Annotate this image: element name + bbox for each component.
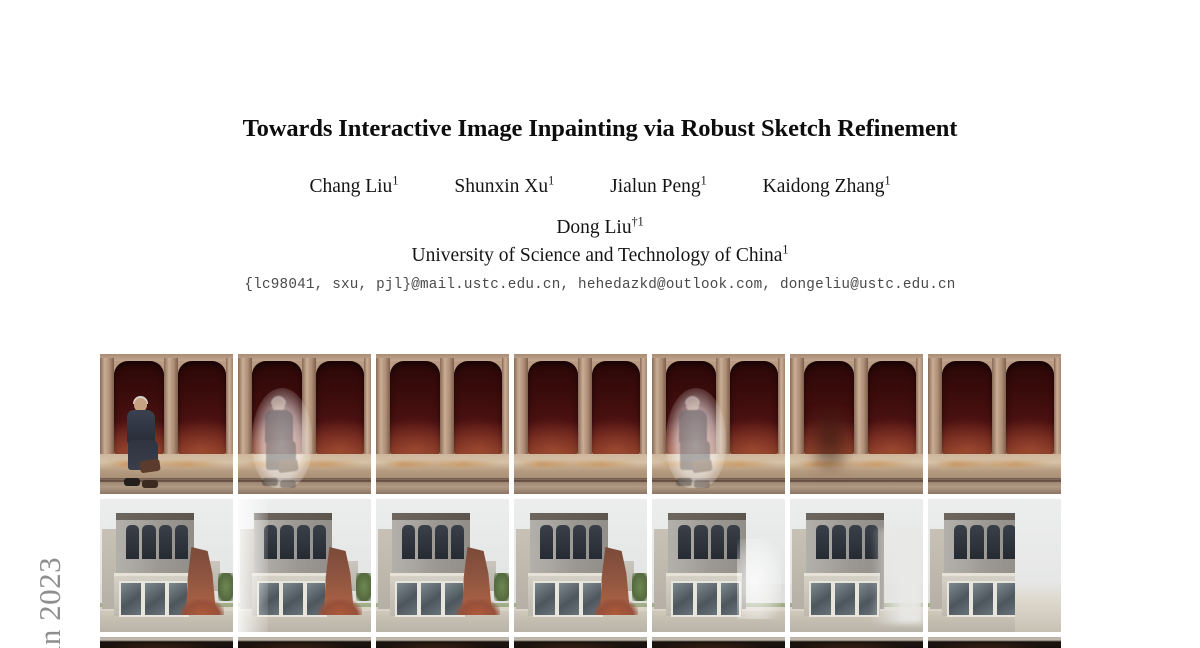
window-row	[816, 525, 878, 559]
wall-pillar	[226, 358, 233, 456]
wall-ledge	[238, 454, 371, 478]
window	[418, 525, 431, 559]
scene-derelict-building	[652, 499, 785, 632]
scene-derelict-building	[514, 499, 647, 632]
window	[280, 525, 293, 559]
author-entry: Chang Liu1	[281, 176, 426, 198]
window-row	[678, 525, 740, 559]
seated-person-ghost	[674, 398, 716, 480]
author-list-primary: Chang Liu1 Shunxin Xu1 Jialun Peng1 Kaid…	[100, 176, 1100, 198]
wall-pillar	[302, 358, 316, 456]
scene-brick-wall	[928, 354, 1061, 494]
window	[711, 525, 724, 559]
person-shoe	[676, 478, 692, 486]
affiliation-mark: 1	[782, 243, 788, 257]
roofline	[254, 513, 332, 520]
scene-brick-wall	[376, 354, 509, 494]
person-shoe	[142, 480, 158, 488]
roofline	[944, 513, 1022, 520]
author-emails: {lc98041, sxu, pjl}@mail.ustc.edu.cn, he…	[100, 277, 1100, 293]
figure-cell	[376, 637, 509, 648]
arch-opening-right	[178, 361, 226, 454]
arch-opening-left	[804, 361, 854, 454]
window	[816, 525, 829, 559]
wall-pillar	[376, 358, 390, 456]
author-name: Jialun Peng	[610, 176, 700, 197]
roofline	[806, 513, 884, 520]
window	[970, 525, 983, 559]
storefront-glass	[947, 581, 971, 617]
storefront-glass	[281, 581, 305, 617]
author-entry: Jialun Peng1	[582, 176, 735, 198]
person-legs	[266, 440, 296, 470]
tree	[356, 573, 371, 601]
wall-base	[376, 478, 509, 494]
arch-opening-right	[454, 361, 502, 454]
wall-pillar	[502, 358, 509, 456]
figure-cell	[238, 354, 371, 494]
window	[865, 525, 878, 559]
wall-pillar	[440, 358, 454, 456]
storefront-glass	[257, 581, 281, 617]
window	[540, 525, 553, 559]
figure-cell	[652, 499, 785, 632]
roofline	[668, 513, 746, 520]
person-legs	[128, 440, 158, 470]
roofline	[392, 513, 470, 520]
scene-dark-cropped	[238, 637, 371, 648]
window-row	[126, 525, 188, 559]
window	[264, 525, 277, 559]
figure-cell	[652, 637, 785, 648]
figure-cell	[928, 637, 1061, 648]
window	[556, 525, 569, 559]
scene-brick-wall	[514, 354, 647, 494]
storefront-glass	[533, 581, 557, 617]
person-torso	[265, 410, 293, 444]
author-affiliation-mark: 1	[701, 174, 707, 188]
window	[573, 525, 586, 559]
person-shoe	[262, 478, 278, 486]
wall-pillar	[928, 358, 942, 456]
window	[832, 525, 845, 559]
scene-dark-cropped	[928, 637, 1061, 648]
author-affiliation-mark: 1	[548, 174, 554, 188]
author-entry: Kaidong Zhang1	[735, 176, 919, 198]
wall-pillar	[778, 358, 785, 456]
figure-row-2	[100, 499, 1070, 632]
figure-cell	[514, 499, 647, 632]
storefront-glass	[833, 581, 857, 617]
window	[727, 525, 740, 559]
wall-ledge	[928, 454, 1061, 478]
wall-ledge	[514, 454, 647, 478]
paper-page: Towards Interactive Image Inpainting via…	[0, 0, 1200, 648]
storefront	[942, 573, 1018, 616]
storefront	[114, 573, 190, 616]
scene-derelict-building	[238, 499, 371, 632]
arch-opening-left	[390, 361, 440, 454]
window	[678, 525, 691, 559]
wall-ledge	[790, 454, 923, 478]
storefront-glass	[857, 581, 879, 617]
tree	[218, 573, 233, 601]
scene-derelict-building	[376, 499, 509, 632]
window	[297, 525, 310, 559]
seated-person-ghost	[260, 398, 302, 480]
person-shoe	[124, 478, 140, 486]
roofline	[116, 513, 194, 520]
roofline	[530, 513, 608, 520]
figure-cell	[514, 637, 647, 648]
scene-brick-wall	[238, 354, 371, 494]
arch-opening-left	[528, 361, 578, 454]
figure-cell	[928, 354, 1061, 494]
window-row	[540, 525, 602, 559]
figure-cell	[790, 499, 923, 632]
scene-derelict-building	[928, 499, 1061, 632]
person-torso	[127, 410, 155, 444]
scene-dark-cropped	[652, 637, 785, 648]
rubble-pile	[456, 599, 500, 615]
window	[987, 525, 1000, 559]
figure-cell	[100, 499, 233, 632]
storefront	[252, 573, 328, 616]
arch-opening-right	[730, 361, 778, 454]
figure-cell	[790, 354, 923, 494]
author-affiliation-mark: 1	[392, 174, 398, 188]
author-affiliation-mark: 1	[885, 174, 891, 188]
window	[849, 525, 862, 559]
scene-brick-wall	[790, 354, 923, 494]
figure-cell	[238, 499, 371, 632]
scene-brick-wall	[652, 354, 785, 494]
storefront	[390, 573, 466, 616]
window	[402, 525, 415, 559]
wall-pillar	[916, 358, 923, 456]
wall-ledge	[376, 454, 509, 478]
figure-cell	[652, 354, 785, 494]
scene-derelict-building	[100, 499, 233, 632]
author-list-corresponding: Dong Liu†1	[100, 217, 1100, 239]
window	[1003, 525, 1016, 559]
person-legs	[680, 440, 710, 470]
wall-ledge	[652, 454, 785, 478]
storefront	[528, 573, 604, 616]
arch-opening-right	[592, 361, 640, 454]
rubble-pile	[318, 599, 362, 615]
storefront-glass	[671, 581, 695, 617]
wall-base	[100, 478, 233, 494]
seated-person	[122, 398, 164, 480]
storefront-glass	[971, 581, 995, 617]
storefront-glass	[719, 581, 741, 617]
wall-base	[652, 478, 785, 494]
scene-dark-cropped	[376, 637, 509, 648]
wall-pillar	[164, 358, 178, 456]
arch-opening-right	[1006, 361, 1054, 454]
figure-cell	[238, 637, 371, 648]
window	[694, 525, 707, 559]
wall-ledge	[100, 454, 233, 478]
affiliation-name: University of Science and Technology of …	[412, 245, 783, 266]
window	[126, 525, 139, 559]
window	[142, 525, 155, 559]
figure-cell	[514, 354, 647, 494]
window-row	[954, 525, 1016, 559]
wall-base	[928, 478, 1061, 494]
storefront-glass	[119, 581, 143, 617]
affiliation-line: University of Science and Technology of …	[100, 245, 1100, 267]
author-entry: Shunxin Xu1	[426, 176, 582, 198]
person-shoe	[694, 480, 710, 488]
figure-cell	[928, 499, 1061, 632]
tree	[494, 573, 509, 601]
scene-dark-cropped	[514, 637, 647, 648]
scene-dark-cropped	[790, 637, 923, 648]
storefront-glass	[419, 581, 443, 617]
window	[435, 525, 448, 559]
page-title: Towards Interactive Image Inpainting via…	[100, 115, 1100, 143]
window	[175, 525, 188, 559]
storefront-glass	[695, 581, 719, 617]
scene-derelict-building	[790, 499, 923, 632]
storefront-glass	[995, 581, 1017, 617]
wall-pillar	[238, 358, 252, 456]
wall-base	[238, 478, 371, 494]
figure-row-3	[100, 637, 1070, 648]
wall-pillar	[790, 358, 804, 456]
storefront-glass	[395, 581, 419, 617]
figure-cell	[376, 354, 509, 494]
wall-pillar	[854, 358, 868, 456]
window-row	[402, 525, 464, 559]
wall-pillar	[578, 358, 592, 456]
figure-row-1	[100, 354, 1070, 494]
storefront-glass	[143, 581, 167, 617]
person-torso	[679, 410, 707, 444]
wall-pillar	[514, 358, 528, 456]
storefront	[804, 573, 880, 616]
person-shoe	[280, 480, 296, 488]
storefront	[666, 573, 742, 616]
wall-base	[514, 478, 647, 494]
wall-pillar	[364, 358, 371, 456]
wall-pillar	[716, 358, 730, 456]
rubble-pile	[180, 599, 224, 615]
window	[451, 525, 464, 559]
figure-cell	[100, 637, 233, 648]
tree	[632, 573, 647, 601]
wall-base	[790, 478, 923, 494]
arch-opening-right	[868, 361, 916, 454]
wall-pillar	[652, 358, 666, 456]
author-name: Kaidong Zhang	[763, 176, 885, 197]
rubble-pile	[594, 599, 638, 615]
figure-cell	[100, 354, 233, 494]
storefront-glass	[557, 581, 581, 617]
wall-pillar	[640, 358, 647, 456]
author-affiliation-mark: †1	[632, 215, 644, 229]
wall-pillar	[100, 358, 114, 456]
arch-opening-right	[316, 361, 364, 454]
window	[313, 525, 326, 559]
wall-pillar	[992, 358, 1006, 456]
scene-dark-cropped	[100, 637, 233, 648]
window-row	[264, 525, 326, 559]
wall-pillar	[1054, 358, 1061, 456]
author-name: Dong Liu	[556, 217, 631, 238]
window	[159, 525, 172, 559]
figure-cell	[376, 499, 509, 632]
storefront-glass	[809, 581, 833, 617]
author-name: Chang Liu	[309, 176, 392, 197]
window	[589, 525, 602, 559]
arch-opening-left	[942, 361, 992, 454]
author-name: Shunxin Xu	[454, 176, 548, 197]
teaser-figure-grid	[100, 354, 1070, 648]
scene-brick-wall	[100, 354, 233, 494]
window	[954, 525, 967, 559]
figure-cell	[790, 637, 923, 648]
